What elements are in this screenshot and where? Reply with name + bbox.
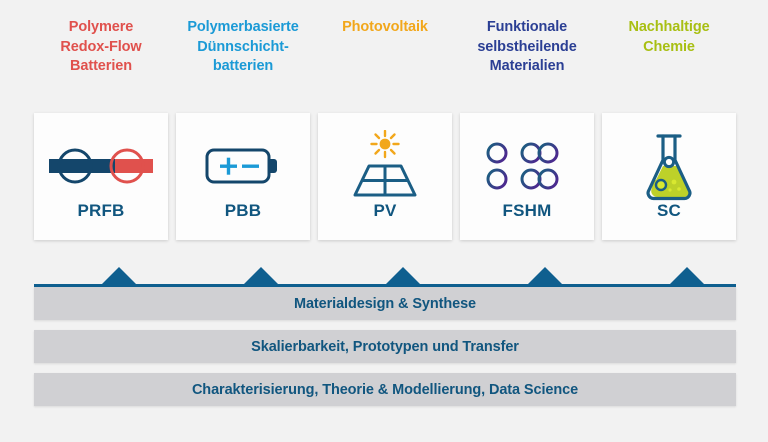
topic-card-label: SC: [657, 201, 681, 221]
connector-markers: [34, 264, 736, 288]
heading-line: Chemie: [602, 38, 736, 58]
battery-icon: [204, 129, 282, 203]
topic-card-prfb[interactable]: PRFB: [34, 113, 168, 240]
erlenmeyer-flask-icon: [636, 129, 702, 203]
heading-line: Dünnschicht-: [176, 38, 310, 58]
cross-cutting-bar-materialdesign[interactable]: Materialdesign & Synthese: [34, 287, 736, 320]
bar-label: Skalierbarkeit, Prototypen und Transfer: [251, 339, 519, 355]
category-headings-row: Polymere Redox-Flow Batterien Polymerbas…: [34, 18, 736, 104]
heading-line: selbstheilende: [460, 38, 594, 58]
heading-line: Polymere: [34, 18, 168, 38]
topic-card-fshm[interactable]: FSHM: [460, 113, 594, 240]
category-heading-prfb: Polymere Redox-Flow Batterien: [34, 18, 168, 104]
topic-card-pbb[interactable]: PBB: [176, 113, 310, 240]
heading-line: batterien: [176, 57, 310, 77]
heading-line: Photovoltaik: [318, 18, 452, 38]
self-healing-rings-icon: [486, 129, 568, 203]
category-heading-pbb: Polymerbasierte Dünnschicht- batterien: [176, 18, 310, 104]
topic-cards-row: PRFB PBB: [34, 113, 736, 240]
category-heading-pv: Photovoltaik: [318, 18, 452, 104]
heading-line: Redox-Flow: [34, 38, 168, 58]
triangle-marker-group: [101, 267, 705, 285]
category-heading-sc: Nachhaltige Chemie: [602, 18, 736, 104]
topic-card-label: FSHM: [503, 201, 552, 221]
topic-card-pv[interactable]: PV: [318, 113, 452, 240]
cross-cutting-bar-skalierbarkeit[interactable]: Skalierbarkeit, Prototypen und Transfer: [34, 330, 736, 363]
heading-line: Batterien: [34, 57, 168, 77]
redox-flow-battery-icon: [49, 129, 153, 203]
topic-card-label: PRFB: [77, 201, 124, 221]
heading-line: Polymerbasierte: [176, 18, 310, 38]
category-heading-fshm: Funktionale selbstheilende Materialien: [460, 18, 594, 104]
heading-line: Materialien: [460, 57, 594, 77]
cross-cutting-bar-charakterisierung[interactable]: Charakterisierung, Theorie & Modellierun…: [34, 373, 736, 406]
heading-line: Funktionale: [460, 18, 594, 38]
topic-card-label: PBB: [225, 201, 262, 221]
heading-line: Nachhaltige: [602, 18, 736, 38]
topic-card-sc[interactable]: SC: [602, 113, 736, 240]
topic-card-label: PV: [373, 201, 396, 221]
bar-label: Materialdesign & Synthese: [294, 296, 476, 312]
solar-panel-sun-icon: [342, 129, 428, 203]
bar-label: Charakterisierung, Theorie & Modellierun…: [192, 382, 578, 398]
